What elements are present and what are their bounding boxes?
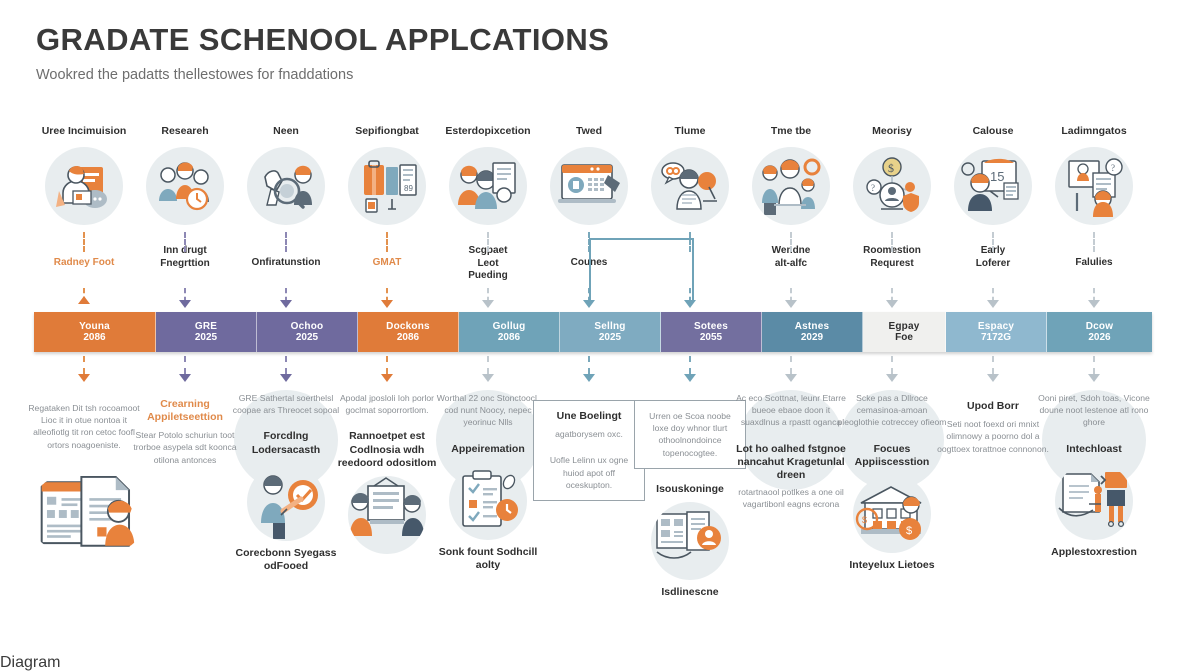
detail-body: Urren oe Scoa noobe loxe doy whnor tlurt… — [643, 410, 737, 459]
checklist-clipboard-icon — [449, 462, 527, 540]
timeline-segment-value: 2025 — [599, 332, 621, 344]
detail-body: agatborysem oxc. — [542, 428, 636, 440]
three-people-clock-icon — [146, 147, 224, 225]
detail-block-9: Scke pas a Dllroce cemasinoa-amoan pleog… — [836, 392, 948, 572]
connector-dash — [184, 356, 186, 374]
milestone-title: Twed — [539, 125, 639, 141]
detail-bold-label: Forcdlng Lodersacasth — [230, 430, 342, 456]
connector-dash — [386, 356, 388, 374]
svg-text:$: $ — [862, 515, 867, 525]
milestone-mid-label: Onfiratunstion — [236, 257, 336, 270]
connector-arrow — [381, 300, 393, 308]
timeline-segment-7[interactable]: Sotees2055 — [661, 312, 762, 352]
connector-arrow — [1088, 374, 1100, 382]
detail-bold-label: Focues Appiiscesstion — [836, 443, 948, 469]
connector-dash — [891, 232, 893, 252]
timeline-segment-6[interactable]: Sellng2025 — [560, 312, 661, 352]
detail-icon-caption: Sonk fount Sodhcill aolty — [432, 546, 544, 572]
detail-text: Ooni piret, Sdoh toas, Vicone doune noot… — [1038, 392, 1150, 429]
detail-body: Seti noot foexd ori mnixt olimnowy a poo… — [937, 418, 1049, 455]
connector-dash — [992, 356, 994, 374]
detail-block-6: Une Boelingtagatborysem oxc.Uofle Lelinn… — [533, 400, 645, 501]
detail-text: Apodal jposloli Ioh porlor goclmat sopor… — [331, 392, 443, 416]
timeline-segment-value: 2025 — [195, 332, 217, 344]
milestone-title: Neen — [236, 125, 336, 141]
timeline-segment-11[interactable]: Dcow2026 — [1047, 312, 1152, 352]
page-title: GRADATE SCHENOOL APPLCATIONS — [36, 22, 609, 58]
detail-text: GRE Sathertal soerthelsl coopae ars Thre… — [230, 392, 342, 416]
milestone-mid-label: Radney Foot — [34, 257, 134, 270]
timeline-segment-label: Ochoo — [291, 321, 324, 333]
milestone-title: Uree Incimuision — [34, 125, 134, 141]
connector-arrow — [78, 296, 90, 304]
connector-dash — [588, 356, 590, 374]
timeline-segment-8[interactable]: Astnes2029 — [762, 312, 863, 352]
detail-icon-caption: Applestoxrestion — [1038, 546, 1150, 559]
detail-block-8: Ac eco Scottnat, leunr Etarre bueoe ebao… — [735, 392, 847, 510]
detail-heading: Upod Borr — [937, 400, 1049, 413]
detail-heading: Crearning Appiletseettion — [129, 398, 241, 424]
detail-body: Worthal 22 onc Stonctoocl, cod nunt Nooc… — [432, 392, 544, 429]
milestone-mid-label: Falulies — [1044, 257, 1144, 270]
connector-dash — [790, 356, 792, 374]
detail-body: Apodal jposloli Ioh porlor goclmat sopor… — [331, 392, 443, 416]
detail-bold-label: Lot ho oalhed fstgnoe nancahut Kragetunl… — [735, 443, 847, 482]
connector-arrow — [381, 374, 393, 382]
milestone-title: Meorisy — [842, 125, 942, 141]
connector-arrow — [785, 300, 797, 308]
timeline-segment-label: Sotees — [694, 321, 728, 333]
connector-dash — [184, 232, 186, 252]
timeline-segment-10[interactable]: Espacy7172G — [946, 312, 1047, 352]
timeline-segment-value: 2029 — [801, 332, 823, 344]
timeline-segment-value: 2026 — [1088, 332, 1110, 344]
connector-dash — [487, 232, 489, 252]
svg-text:$: $ — [888, 161, 894, 175]
detail-bold-label: Isouskoninge — [634, 483, 746, 496]
timeline-segment-value: Foe — [895, 332, 913, 344]
briefcase-book-tag-icon: 89 — [348, 147, 426, 225]
milestone-title: Ladimngatos — [1044, 125, 1144, 141]
timeline-segment-value: 2086 — [397, 332, 419, 344]
milestone-mid-label-line: alt-alfc — [741, 258, 841, 271]
detail-body: Ac eco Scottnat, leunr Etarre bueoe ebao… — [735, 392, 847, 429]
laptop-calendar-icon — [550, 147, 628, 225]
connector-arrow — [280, 300, 292, 308]
milestone-title: Tme tbe — [741, 125, 841, 141]
detail-block-1: Regataken Dit tsh rocoamoot Lioc it in o… — [28, 402, 140, 559]
connector-dash — [891, 356, 893, 374]
timeline-segment-9[interactable]: EgpayFoe — [863, 312, 946, 352]
detail-text: Ac eco Scottnat, leunr Etarre bueoe ebao… — [735, 392, 847, 429]
connector-arrow — [482, 300, 494, 308]
detail-block-10: Upod BorrSeti noot foexd ori mnixt olimn… — [937, 400, 1049, 455]
timeline-segment-label: GRE — [195, 321, 217, 333]
two-people-document-icon — [449, 147, 527, 225]
svg-text:$: $ — [906, 525, 912, 537]
connector-arrow — [886, 300, 898, 308]
milestone-title: Sepifiongbat — [337, 125, 437, 141]
detail-block-5: Worthal 22 onc Stonctoocl, cod nunt Nooc… — [432, 392, 544, 572]
connector-dash — [83, 232, 85, 252]
timeline-segment-4[interactable]: Dockons2086 — [358, 312, 459, 352]
connector-arrow — [987, 300, 999, 308]
detail-text: Worthal 22 onc Stonctoocl, cod nunt Nooc… — [432, 392, 544, 429]
milestone-mid-label-line: GMAT — [337, 257, 437, 270]
milestone-title: Esterdopixcetion — [438, 125, 538, 141]
timeline-segment-label: Dockons — [386, 321, 430, 333]
timeline-segment-label: Dcow — [1086, 321, 1113, 333]
timeline-segment-value: 2086 — [498, 332, 520, 344]
milestone-title: Tlume — [640, 125, 740, 141]
page-subtitle: Wookred the padatts thellestowes for fna… — [36, 67, 609, 83]
milestone-mid-label-line: Loferer — [943, 258, 1043, 271]
calendar-person-icon: 15 — [954, 147, 1032, 225]
connector-dash — [83, 356, 85, 374]
mail-person-writing-icon: ? — [1055, 147, 1133, 225]
connector-dash — [285, 232, 287, 252]
family-gear-icon — [752, 147, 830, 225]
milestone-mid-label-line: Fnegrttion — [135, 258, 235, 271]
detail-heading: Une Boelingt — [542, 410, 636, 423]
timeline-segment-2[interactable]: GRE2025 — [156, 312, 257, 352]
connector-arrow — [280, 374, 292, 382]
milestone-title: Calouse — [943, 125, 1043, 141]
detail-bold-label: Appeiremation — [432, 443, 544, 456]
connector-arrow — [987, 374, 999, 382]
svg-text:15: 15 — [990, 169, 1004, 184]
detail-text: Regataken Dit tsh rocoamoot Lioc it in o… — [28, 402, 140, 451]
connector-arrow — [482, 374, 494, 382]
milestone-mid-label-line: Falulies — [1044, 257, 1144, 270]
document-handshake-icon — [651, 502, 729, 580]
timeline-segment-value: 2055 — [700, 332, 722, 344]
milestone-mid-label-line: Radney Foot — [34, 257, 134, 270]
detail-icon-caption: Inteyelux Lietoes — [836, 559, 948, 572]
connector-dash — [386, 232, 388, 252]
university-bank-icon: $ $ — [853, 475, 931, 553]
timeline-segment-value: 7172G — [981, 332, 1011, 344]
milestone-mid-label-line: Pueding — [438, 270, 538, 283]
detail-block-7: Urren oe Scoa noobe loxe doy whnor tlurt… — [634, 400, 746, 599]
person-speech-bubble-icon — [651, 147, 729, 225]
connector-dash — [790, 232, 792, 252]
milestone-column-5[interactable]: Esterdopixcetion ScgpaetLeotPueding — [438, 125, 538, 283]
person-target-gear-icon — [247, 463, 325, 541]
milestone-mid-label-line: Leot — [438, 258, 538, 271]
connector-dash — [285, 356, 287, 374]
person-documents-chat-icon — [45, 147, 123, 225]
document-person-presentation-icon — [1055, 462, 1133, 540]
detail-block-2: Crearning AppiletseettionStear Potolo sc… — [129, 398, 241, 466]
connector-arrow — [78, 374, 90, 382]
detail-block-11: Ooni piret, Sdoh toas, Vicone doune noot… — [1038, 392, 1150, 559]
money-network-shield-icon: $ ? — [853, 147, 931, 225]
connector-arrow — [179, 300, 191, 308]
group-bracket-connector — [589, 238, 694, 302]
two-people-whiteboard-icon — [348, 476, 426, 554]
connector-dash — [1093, 356, 1095, 374]
detail-block-4: Apodal jposloli Ioh porlor goclmat sopor… — [331, 392, 443, 554]
detail-text-box: Une Boelingtagatborysem oxc.Uofle Lelinn… — [533, 400, 645, 501]
connector-arrow — [583, 374, 595, 382]
connector-dash — [992, 232, 994, 252]
svg-text:89: 89 — [404, 184, 413, 193]
connector-arrow — [886, 374, 898, 382]
timeline-bar[interactable]: Youna2086GRE2025Ochoo2025Dockons2086Goll… — [34, 312, 1152, 352]
detail-bold-label: Rannoetpet est Codlnosia wdh reedoord od… — [331, 430, 443, 469]
timeline-segment-label: Espacy — [978, 321, 1014, 333]
timeline-segment-label: Sellng — [594, 321, 625, 333]
detail-icon-caption: Corecbonn Syegass odFooed — [230, 547, 342, 573]
timeline-segment-5[interactable]: Gollug2086 — [459, 312, 560, 352]
timeline-segment-value: 2025 — [296, 332, 318, 344]
connector-dash — [689, 356, 691, 374]
detail-body-tertiary: rotartnaool potlkes a one oil vagartibon… — [735, 486, 847, 510]
hand-magnifier-person-icon — [247, 147, 325, 225]
detail-bold-label: Intechloast — [1038, 443, 1150, 456]
detail-body: GRE Sathertal soerthelsl coopae ars Thre… — [230, 392, 342, 416]
page-header: GRADATE SCHENOOL APPLCATIONS Wookred the… — [36, 22, 609, 83]
connector-arrow — [785, 374, 797, 382]
detail-body: Stear Potolo schuriun toot trorboe asype… — [129, 429, 241, 466]
milestone-mid-label-line: Onfiratunstion — [236, 257, 336, 270]
connector-arrow — [179, 374, 191, 382]
milestone-title: Researeh — [135, 125, 235, 141]
connector-arrow — [1088, 300, 1100, 308]
timeline-segment-value: 2086 — [83, 332, 105, 344]
detail-text: Scke pas a Dllroce cemasinoa-amoan pleog… — [836, 392, 948, 429]
detail-block-3: GRE Sathertal soerthelsl coopae ars Thre… — [230, 392, 342, 573]
detail-text: Upod BorrSeti noot foexd ori mnixt olimn… — [937, 400, 1049, 455]
timeline-segment-1[interactable]: Youna2086 — [34, 312, 156, 352]
detail-text-box: Urren oe Scoa noobe loxe doy whnor tlurt… — [634, 400, 746, 469]
detail-text: Crearning AppiletseettionStear Potolo sc… — [129, 398, 241, 466]
resume-document-person-icon — [28, 469, 148, 559]
connector-dash — [487, 356, 489, 374]
timeline-segment-label: Gollug — [493, 321, 526, 333]
detail-body-secondary: Uofle Lelinn ux ogne huiod apot off oces… — [542, 454, 636, 491]
timeline-segment-3[interactable]: Ochoo2025 — [257, 312, 358, 352]
timeline-segment-label: Astnes — [795, 321, 830, 333]
timeline-segment-label: Youna — [79, 321, 110, 333]
detail-body: Scke pas a Dllroce cemasinoa-amoan pleog… — [836, 392, 948, 429]
detail-body: Regataken Dit tsh rocoamoot Lioc it in o… — [28, 402, 140, 451]
timeline-segment-label: Egpay — [888, 321, 919, 333]
connector-arrow — [684, 374, 696, 382]
milestone-mid-label-line: Requrest — [842, 258, 942, 271]
svg-text:?: ? — [871, 183, 875, 193]
connector-dash — [1093, 232, 1095, 252]
detail-icon-caption: Isdlinescne — [634, 586, 746, 599]
milestone-mid-label: GMAT — [337, 257, 437, 270]
detail-body: Ooni piret, Sdoh toas, Vicone doune noot… — [1038, 392, 1150, 429]
svg-text:?: ? — [1111, 163, 1115, 173]
